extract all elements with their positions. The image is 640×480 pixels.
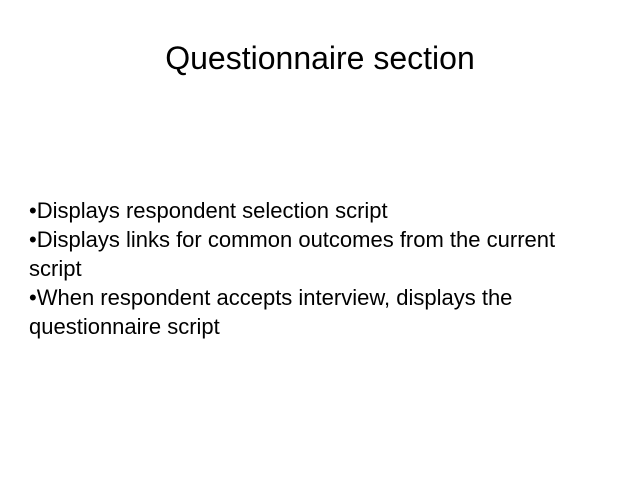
slide-canvas: Questionnaire section •Displays responde… bbox=[0, 0, 640, 480]
list-item-text: When respondent accepts interview, displ… bbox=[29, 285, 512, 339]
bullet-icon: • bbox=[29, 198, 37, 223]
list-item: •Displays respondent selection script bbox=[29, 196, 604, 225]
bullet-icon: • bbox=[29, 285, 37, 310]
list-item-text: Displays respondent selection script bbox=[37, 198, 388, 223]
bullet-icon: • bbox=[29, 227, 37, 252]
list-item: •When respondent accepts interview, disp… bbox=[29, 283, 604, 341]
bullet-list: •Displays respondent selection script •D… bbox=[29, 196, 604, 341]
list-item-text: Displays links for common outcomes from … bbox=[29, 227, 555, 281]
page-title: Questionnaire section bbox=[0, 38, 640, 78]
list-item: •Displays links for common outcomes from… bbox=[29, 225, 604, 283]
